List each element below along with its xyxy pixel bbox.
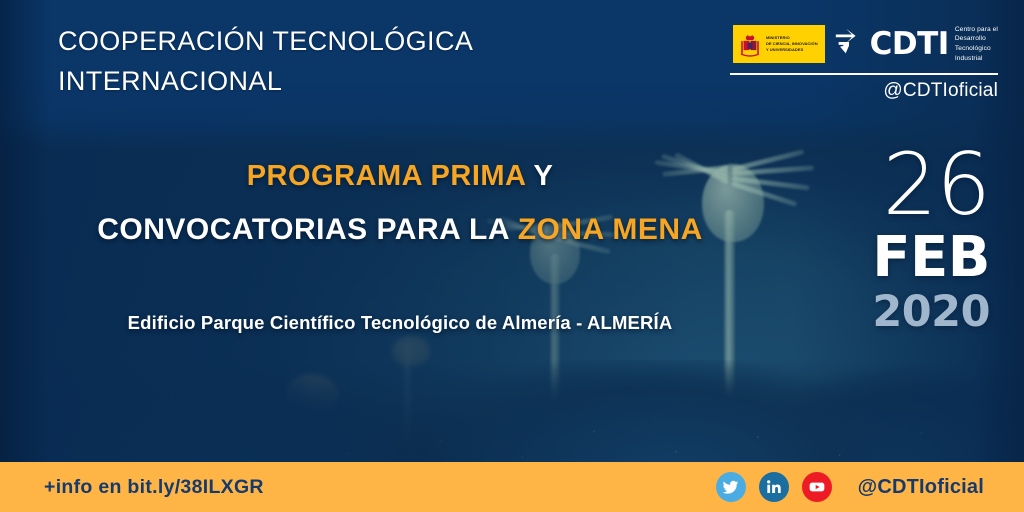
- ministry-line-2: DE CIENCIA, INNOVACIÓN: [766, 41, 818, 47]
- twitter-icon[interactable]: [716, 472, 746, 502]
- title-line-1-highlight: PROGRAMA PRIMA: [247, 160, 526, 192]
- title-line-1: PROGRAMA PRIMA Y: [0, 162, 800, 191]
- date-month: FEB: [820, 230, 990, 286]
- footer-social-handle[interactable]: @CDTIoficial: [858, 476, 984, 499]
- headline: COOPERACIÓN TECNOLÓGICA INTERNACIONAL: [58, 22, 473, 102]
- title-line-2-plain: CONVOCATORIAS PARA LA: [97, 213, 517, 246]
- cdti-tagline-line-2: Desarrollo: [955, 34, 998, 44]
- cdti-tagline: Centro para el Desarrollo Tecnológico In…: [954, 25, 998, 64]
- event-title: PROGRAMA PRIMA Y CONVOCATORIAS PARA LA Z…: [0, 162, 800, 245]
- event-banner: COOPERACIÓN TECNOLÓGICA INTERNACIONAL: [0, 0, 1024, 512]
- social-links: @CDTIoficial: [716, 472, 984, 502]
- date-year: 2020: [820, 291, 990, 334]
- headline-line-2: INTERNACIONAL: [58, 62, 473, 102]
- title-line-1-rest: Y: [525, 160, 553, 192]
- cdti-arrow-check-icon: [833, 26, 865, 63]
- header-social-handle: @CDTIoficial: [730, 80, 998, 102]
- linkedin-icon[interactable]: [759, 472, 789, 502]
- headline-line-1: COOPERACIÓN TECNOLÓGICA: [58, 22, 473, 62]
- cdti-tagline-line-3: Tecnológico: [955, 44, 998, 54]
- venue-text: Edificio Parque Científico Tecnológico d…: [0, 312, 800, 334]
- footer-bar: +info en bit.ly/38ILXGR @C: [0, 462, 1024, 512]
- logo-divider: [730, 73, 998, 75]
- cdti-wordmark: CDTI: [870, 29, 949, 60]
- cdti-tagline-line-4: Industrial: [955, 54, 998, 64]
- ministry-line-3: Y UNIVERSIDADES: [766, 47, 818, 53]
- title-line-2-highlight: ZONA MENA: [518, 213, 703, 246]
- date-day: 26: [820, 142, 990, 228]
- logo-lockup: MINISTERIO DE CIENCIA, INNOVACIÓN Y UNIV…: [730, 22, 998, 102]
- cdti-tagline-line-1: Centro para el: [955, 25, 998, 35]
- spain-coat-of-arms-icon: [738, 30, 762, 58]
- event-date: 26 FEB 2020: [820, 142, 990, 334]
- ministry-name: MINISTERIO DE CIENCIA, INNOVACIÓN Y UNIV…: [766, 35, 818, 52]
- ministry-logo: MINISTERIO DE CIENCIA, INNOVACIÓN Y UNIV…: [733, 25, 825, 63]
- youtube-icon[interactable]: [802, 472, 832, 502]
- title-line-2: CONVOCATORIAS PARA LA ZONA MENA: [0, 215, 800, 245]
- more-info-link[interactable]: +info en bit.ly/38ILXGR: [44, 476, 264, 499]
- cdti-logo: CDTI Centro para el Desarrollo Tecnológi…: [833, 25, 998, 64]
- logo-row: MINISTERIO DE CIENCIA, INNOVACIÓN Y UNIV…: [730, 22, 998, 66]
